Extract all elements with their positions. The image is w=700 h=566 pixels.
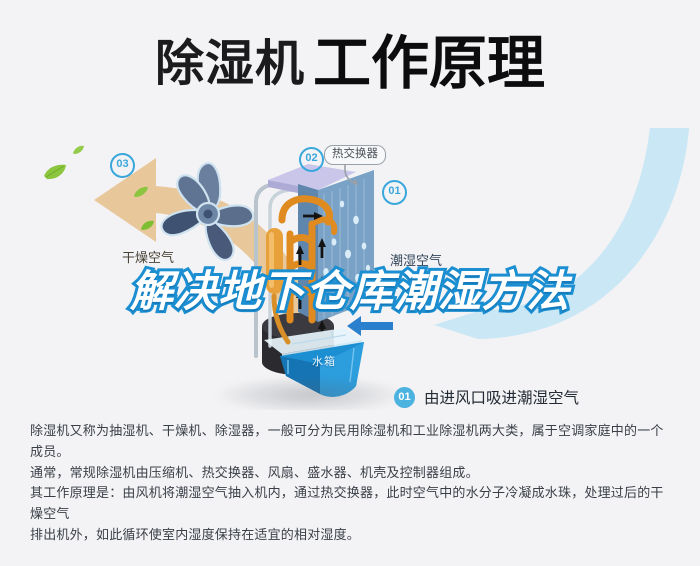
page-title-part-2: 工作原理: [313, 35, 545, 93]
working-principle-diagram: 03 02 01 干燥空气 潮湿空气 热交换器 水箱 01 由进风口吸进潮湿空气…: [0, 128, 700, 410]
dry-air-label: 干燥空气: [122, 247, 174, 266]
heat-exchanger-callout: 热交换器: [324, 145, 386, 165]
callout-tail-icon: [343, 164, 367, 186]
diagram-badge-01: 01: [382, 180, 407, 205]
body-paragraph-2: 其工作原理是：由风机将潮湿空气抽入机内，通过热交换器，此时空气中的水分子冷凝成水…: [30, 482, 670, 545]
leaf-icon: [42, 163, 68, 181]
page-title-part-1: 除湿机: [155, 40, 305, 89]
diagram-badge-03: 03: [110, 153, 135, 178]
list-item: 01 由进风口吸进潮湿空气: [394, 376, 694, 410]
page-title: 除湿机 工作原理: [0, 24, 700, 104]
leaf-icon: [72, 145, 85, 155]
diagram-badge-02: 02: [299, 147, 324, 172]
paragraph-line: 排出机外，如此循环使室内湿度保持在适宜的相对湿度。: [30, 524, 670, 545]
paragraph-line: 其工作原理是：由风机将潮湿空气抽入机内，通过热交换器，此时空气中的水分子冷凝成水…: [30, 482, 670, 524]
leaf-icon: [133, 186, 149, 198]
machine-shadow: [215, 376, 405, 410]
moist-air-arc: [360, 128, 700, 366]
step-text: 由进风口吸进潮湿空气: [424, 386, 579, 408]
air-inlet-arrow: [347, 315, 393, 337]
paragraph-line: 除湿机又称为抽湿机、干燥机、除湿器，一般可分为民用除湿机和工业除湿机两大类，属于…: [30, 420, 670, 462]
infographic-page: 除湿机 工作原理: [0, 0, 700, 566]
step-number: 01: [394, 387, 415, 408]
body-paragraph-1: 除湿机又称为抽湿机、干燥机、除湿器，一般可分为民用除湿机和工业除湿机两大类，属于…: [30, 420, 670, 483]
paragraph-line: 通常，常规除湿机由压缩机、热交换器、风扇、盛水器、机壳及控制器组成。: [30, 462, 670, 483]
steps-list: 01 由进风口吸进潮湿空气 02 潮湿空气经过蒸发器冷凝成水珠 03 从上部出风…: [394, 376, 694, 410]
moist-air-label: 潮湿空气: [390, 250, 442, 269]
water-tank-label: 水箱: [312, 353, 336, 369]
